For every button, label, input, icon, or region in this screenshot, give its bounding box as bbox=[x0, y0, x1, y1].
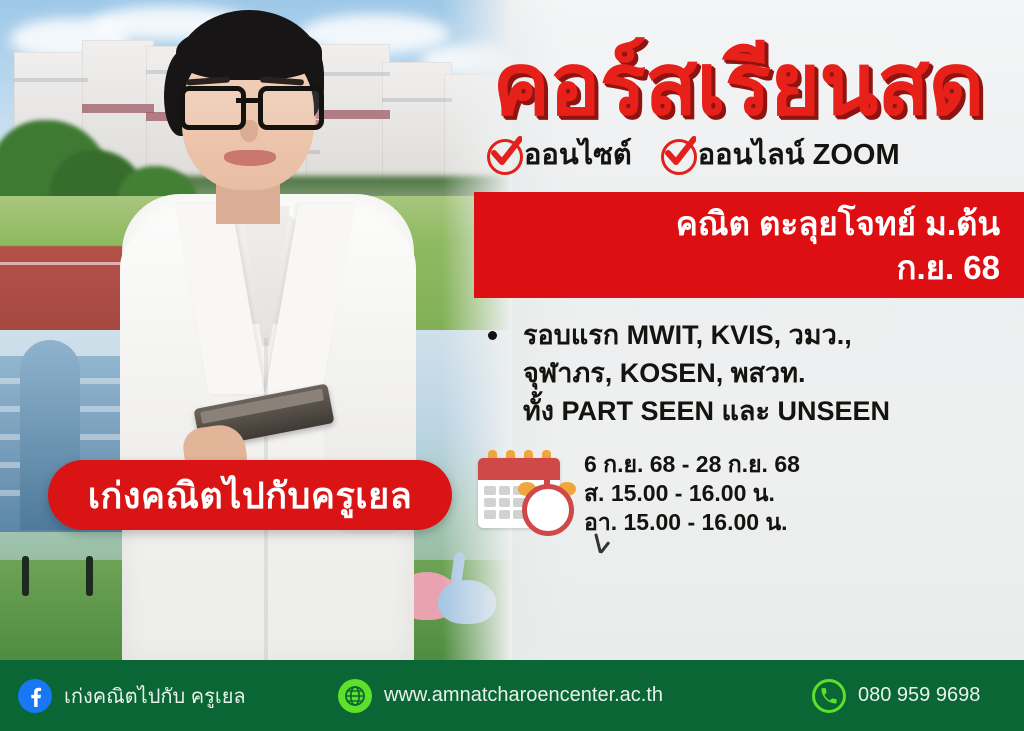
slogan-banner: เก่งคณิตไปกับครูเยล bbox=[48, 460, 452, 530]
course-month: ก.ย. 68 bbox=[474, 246, 1000, 290]
delivery-mode-label: ออนไลน์ ZOOM bbox=[698, 138, 900, 172]
check-circle-icon bbox=[660, 138, 694, 172]
check-circle-icon bbox=[486, 138, 520, 172]
calendar-clock-icon bbox=[474, 448, 578, 534]
list-item: รอบแรก MWIT, KVIS, วมว., จุฬาภร, KOSEN, … bbox=[484, 316, 1024, 430]
footer-phone[interactable]: 080 959 9698 bbox=[812, 679, 980, 713]
bullet-dot-icon bbox=[488, 331, 497, 340]
schedule-saturday: ส. 15.00 - 16.00 น. bbox=[584, 479, 800, 508]
schedule-sunday: อา. 15.00 - 16.00 น. bbox=[584, 508, 800, 537]
phone-label: 080 959 9698 bbox=[858, 684, 980, 707]
globe-icon bbox=[338, 679, 372, 713]
course-details-list: รอบแรก MWIT, KVIS, วมว., จุฬาภร, KOSEN, … bbox=[484, 316, 1024, 430]
instructor-figure bbox=[118, 8, 418, 660]
slogan-text: เก่งคณิตไปกับครูเยล bbox=[88, 467, 413, 524]
phone-icon bbox=[812, 679, 846, 713]
list-item-text: รอบแรก MWIT, KVIS, วมว., จุฬาภร, KOSEN, … bbox=[523, 316, 890, 430]
delivery-mode-online: ออนไลน์ ZOOM bbox=[660, 138, 900, 172]
page-title: คอร์สเรียนสด bbox=[452, 40, 1024, 130]
footer-facebook[interactable]: เก่งคณิตไปกับ ครูเยล bbox=[18, 679, 246, 713]
contact-footer: เก่งคณิตไปกับ ครูเยล www.amnatcharoencen… bbox=[0, 660, 1024, 731]
course-title: คณิต ตะลุยโจทย์ ม.ต้น bbox=[474, 202, 1000, 246]
footer-website[interactable]: www.amnatcharoencenter.ac.th bbox=[338, 679, 663, 713]
delivery-mode-label: ออนไซต์ bbox=[524, 138, 632, 172]
promo-poster: คอร์สเรียนสด ออนไซต์ ออนไลน์ ZOOM คณิต ต… bbox=[0, 0, 1024, 731]
schedule-date-range: 6 ก.ย. 68 - 28 ก.ย. 68 bbox=[584, 450, 800, 479]
course-title-box: คณิต ตะลุยโจทย์ ม.ต้น ก.ย. 68 bbox=[474, 192, 1024, 298]
delivery-mode-list: ออนไซต์ ออนไลน์ ZOOM bbox=[478, 133, 1024, 177]
instructor-photo bbox=[0, 0, 512, 660]
facebook-label: เก่งคณิตไปกับ ครูเยล bbox=[64, 680, 246, 712]
website-label: www.amnatcharoencenter.ac.th bbox=[384, 684, 663, 707]
eyeglasses bbox=[180, 86, 320, 120]
facebook-icon bbox=[18, 679, 52, 713]
delivery-mode-onsite: ออนไซต์ bbox=[486, 138, 632, 172]
schedule-text: 6 ก.ย. 68 - 28 ก.ย. 68 ส. 15.00 - 16.00 … bbox=[584, 448, 800, 537]
schedule-block: 6 ก.ย. 68 - 28 ก.ย. 68 ส. 15.00 - 16.00 … bbox=[474, 448, 1024, 538]
